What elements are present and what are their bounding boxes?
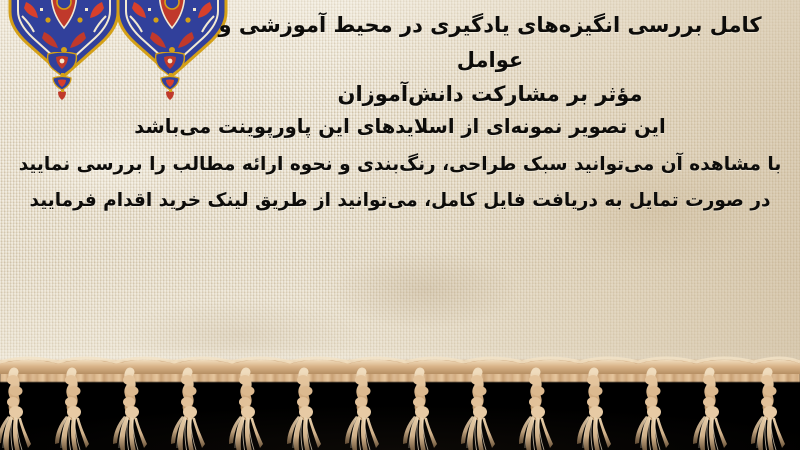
slide-title: کامل بررسی انگیزه‌های یادگیری در محیط آم…	[0, 8, 800, 112]
carpet-fringe-tassels	[0, 352, 800, 450]
slide-title-line-1: کامل بررسی انگیزه‌های یادگیری در محیط آم…	[210, 8, 770, 77]
slide-body: این تصویر نمونه‌ای از اسلایدهای این پاور…	[0, 108, 800, 220]
slide-title-line-2: مؤثر بر مشارکت دانش‌آموزان	[210, 77, 770, 112]
slide-text-layer: کامل بررسی انگیزه‌های یادگیری در محیط آم…	[0, 0, 800, 378]
slide-body-line-1: این تصویر نمونه‌ای از اسلایدهای این پاور…	[18, 108, 782, 147]
slide-body-line-2: با مشاهده آن می‌توانید سبک طراحی، رنگ‌بن…	[18, 147, 782, 184]
powerpoint-slide: کامل بررسی انگیزه‌های یادگیری در محیط آم…	[0, 0, 800, 450]
slide-body-line-3: در صورت تمایل به دریافت فایل کامل، می‌تو…	[18, 183, 782, 220]
